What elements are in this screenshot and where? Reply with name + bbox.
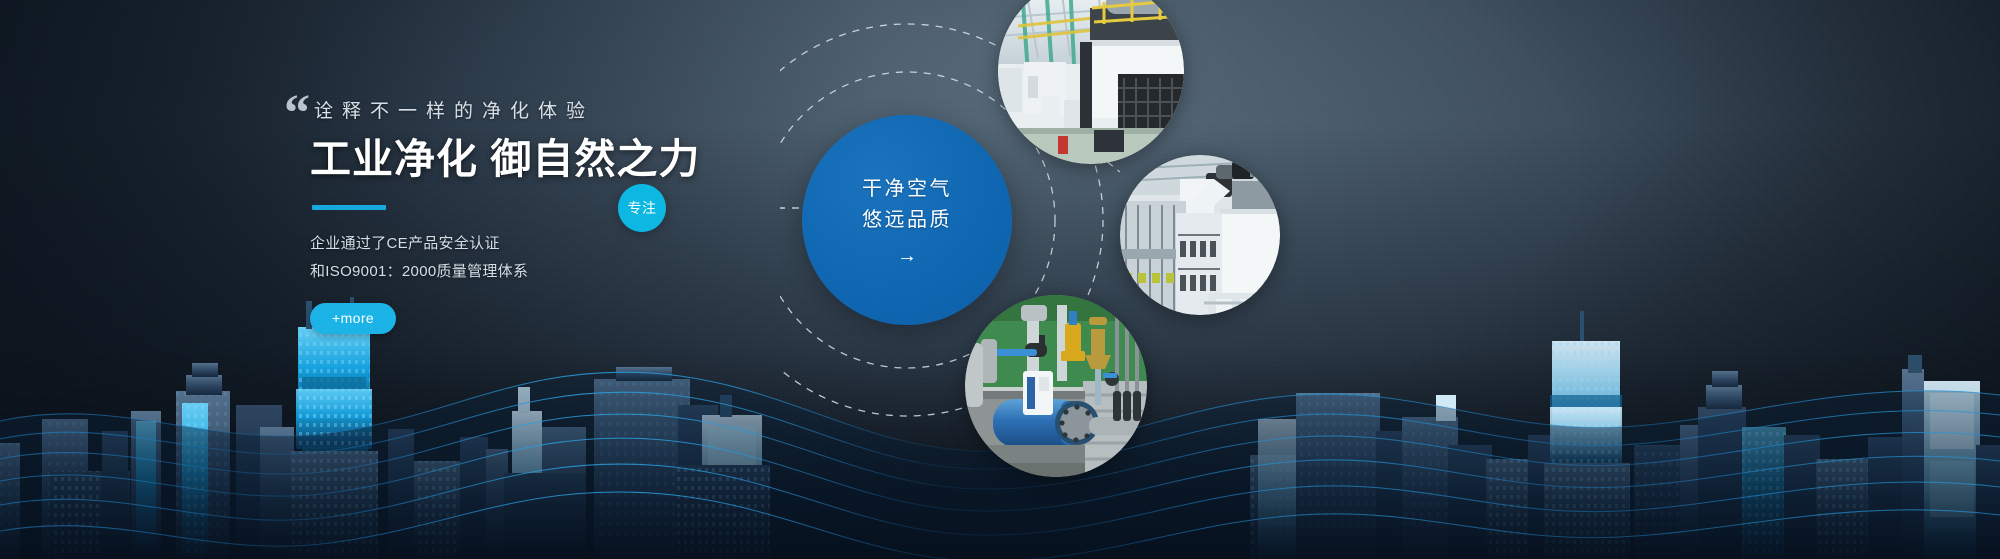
accent-divider	[312, 205, 386, 210]
core-circle[interactable]: 干净空气 悠远品质 →	[802, 115, 1012, 325]
graphic-cluster: 专注 干净空气 悠远品质 →	[780, 0, 1480, 559]
photo-industrial-plant-interior[interactable]	[998, 0, 1184, 164]
focus-badge-label: 专注	[628, 198, 657, 218]
photo-purification-machinery[interactable]	[1120, 155, 1280, 315]
quote-mark-icon: “	[284, 88, 310, 140]
hero-banner: “ 诠释不一样的净化体验 工业净化 御自然之力 企业通过了CE产品安全认证 和I…	[0, 0, 2000, 559]
arrow-right-icon: →	[897, 246, 917, 266]
focus-badge[interactable]: 专注	[618, 184, 666, 232]
more-button[interactable]: +more	[310, 303, 396, 334]
core-line-1: 干净空气	[862, 174, 952, 205]
photo-pipeline-valves-equipment[interactable]	[965, 295, 1147, 477]
core-line-2: 悠远品质	[862, 205, 952, 236]
